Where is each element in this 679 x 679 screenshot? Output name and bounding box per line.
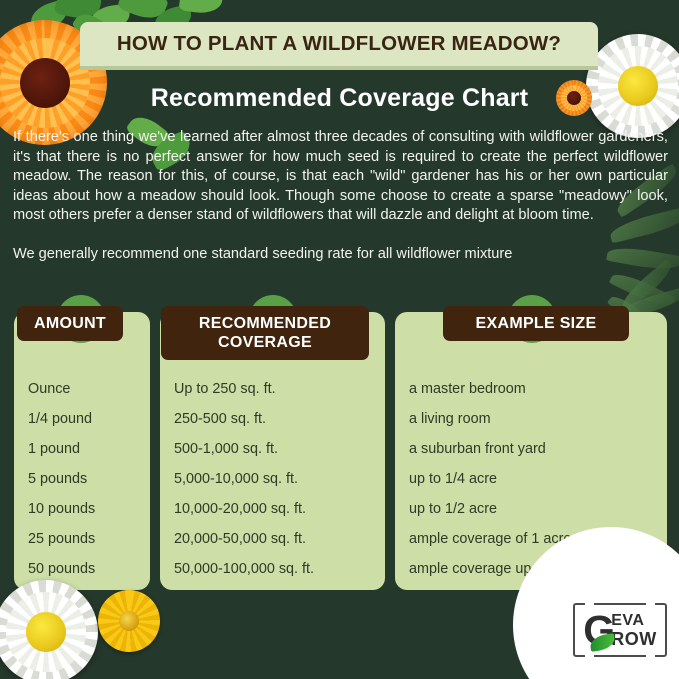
- table-cell: a living room: [409, 404, 653, 434]
- table-cell: 50 pounds: [28, 554, 136, 584]
- logo-text-row: ROW: [611, 630, 657, 648]
- column-cells-coverage: Up to 250 sq. ft. 250-500 sq. ft. 500-1,…: [160, 360, 385, 584]
- title-banner: HOW TO PLANT A WILDFLOWER MEADOW?: [80, 22, 598, 66]
- table-cell: Up to 250 sq. ft.: [174, 374, 371, 404]
- table-cell: 500-1,000 sq. ft.: [174, 434, 371, 464]
- evagrow-logo: G EVA ROW: [573, 603, 667, 657]
- intro-text-block: If there's one thing we've learned after…: [13, 128, 668, 265]
- title-underline-divider: [80, 66, 598, 70]
- column-header-example-size: EXAMPLE SIZE: [443, 306, 629, 341]
- table-column-recommended-coverage: RECOMMENDED COVERAGE Up to 250 sq. ft. 2…: [160, 312, 385, 590]
- page-subtitle: Recommended Coverage Chart: [151, 84, 529, 113]
- intro-paragraph-2: We generally recommend one standard seed…: [13, 245, 668, 265]
- table-cell: Ounce: [28, 374, 136, 404]
- table-cell: up to 1/2 acre: [409, 494, 653, 524]
- yellow-coreopsis-flower-bottom-left: [98, 590, 160, 652]
- column-cells-amount: Ounce 1/4 pound 1 pound 5 pounds 10 poun…: [14, 360, 150, 584]
- column-header-recommended-coverage: RECOMMENDED COVERAGE: [161, 306, 369, 360]
- infographic-poster: HOW TO PLANT A WILDFLOWER MEADOW? Recomm…: [0, 0, 679, 679]
- table-cell: 250-500 sq. ft.: [174, 404, 371, 434]
- subtitle-row: Recommended Coverage Chart: [0, 76, 679, 120]
- table-cell: 50,000-100,000 sq. ft.: [174, 554, 371, 584]
- table-cell: a suburban front yard: [409, 434, 653, 464]
- table-cell: 10 pounds: [28, 494, 136, 524]
- white-daisy-flower-bottom-left: [0, 580, 98, 679]
- table-cell: 25 pounds: [28, 524, 136, 554]
- logo-text-eva: EVA: [611, 613, 657, 629]
- table-cell: 20,000-50,000 sq. ft.: [174, 524, 371, 554]
- table-cell: 5,000-10,000 sq. ft.: [174, 464, 371, 494]
- intro-paragraph-1: If there's one thing we've learned after…: [13, 128, 668, 226]
- table-cell: a master bedroom: [409, 374, 653, 404]
- table-cell: 1/4 pound: [28, 404, 136, 434]
- table-cell: up to 1/4 acre: [409, 464, 653, 494]
- column-header-amount: AMOUNT: [17, 306, 123, 341]
- table-cell: 5 pounds: [28, 464, 136, 494]
- table-column-amount: AMOUNT Ounce 1/4 pound 1 pound 5 pounds …: [14, 312, 150, 590]
- logo-wordmark: EVA ROW: [611, 613, 657, 648]
- table-cell: 10,000-20,000 sq. ft.: [174, 494, 371, 524]
- page-title: HOW TO PLANT A WILDFLOWER MEADOW?: [117, 32, 561, 56]
- table-cell: 1 pound: [28, 434, 136, 464]
